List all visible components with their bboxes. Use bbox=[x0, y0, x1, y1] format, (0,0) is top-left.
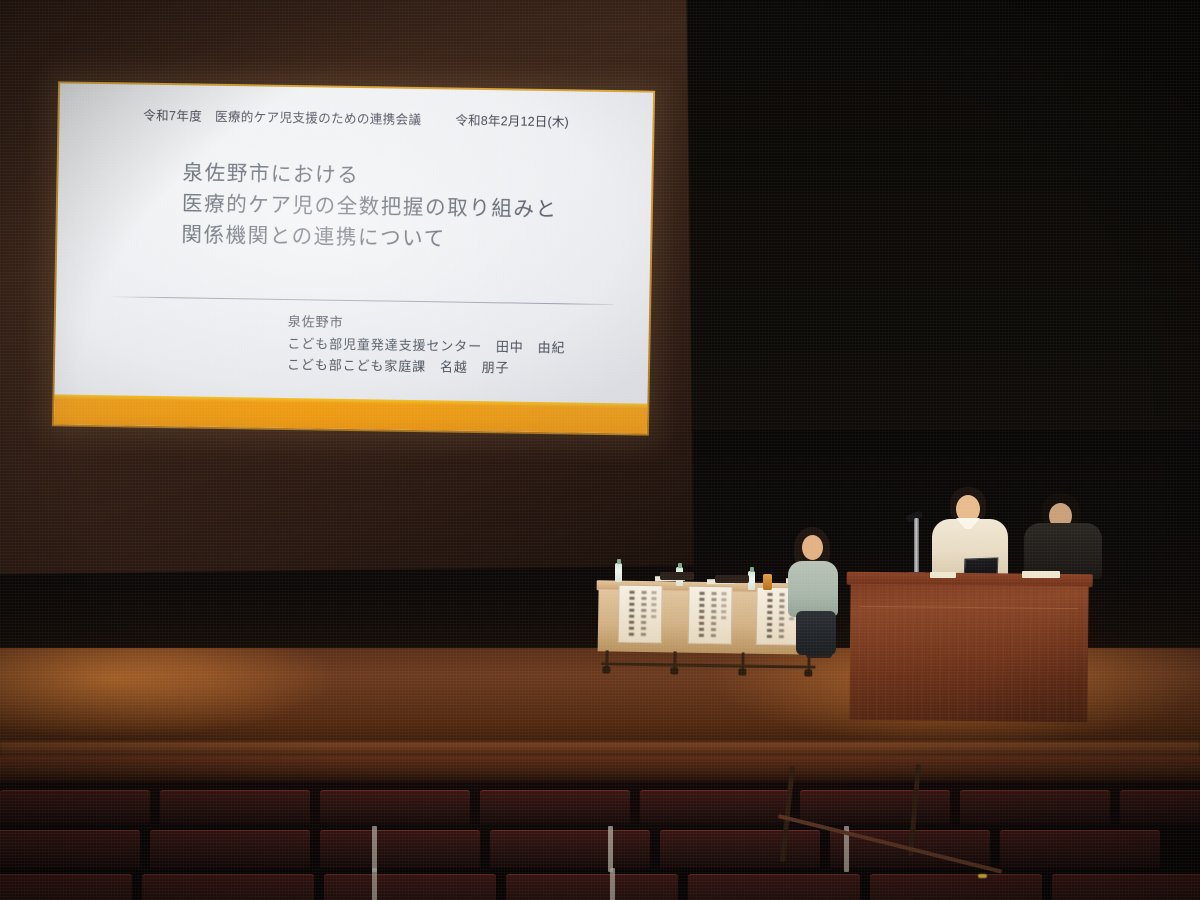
name-placard bbox=[688, 586, 733, 645]
seat-armrest bbox=[610, 868, 615, 900]
slide-header: 令和7年度 医療的ケア児支援のための連携会議 令和8年2月12日(木) bbox=[59, 103, 652, 131]
placard-text-column bbox=[629, 591, 635, 639]
table-caster bbox=[804, 669, 812, 676]
standing-assistant bbox=[1022, 493, 1106, 581]
amber-cup bbox=[763, 574, 772, 590]
panel-chair-back bbox=[715, 575, 749, 583]
lectern bbox=[845, 572, 1093, 727]
auditorium-seat bbox=[1000, 830, 1160, 868]
placard-text-column bbox=[721, 592, 726, 622]
seat-armrest bbox=[608, 826, 613, 872]
slide-title: 泉佐野市における 医療的ケア児の全数把握の取り組みと 関係機関との連携について bbox=[181, 157, 558, 256]
seat-armrest bbox=[372, 826, 377, 872]
lectern-trim-line bbox=[860, 606, 1078, 609]
placard-text-column bbox=[651, 591, 656, 621]
microphone-stand bbox=[914, 518, 919, 578]
auditorium-seat bbox=[490, 830, 650, 868]
presentation-photo-scene: 令和7年度 医療的ケア児支援のための連携会議 令和8年2月12日(木) 泉佐野市… bbox=[0, 0, 1200, 900]
seated-panelist bbox=[784, 527, 850, 667]
table-caster bbox=[670, 667, 678, 674]
placard-text-column bbox=[699, 592, 705, 640]
auditorium-seat bbox=[0, 790, 150, 824]
auditorium-seat bbox=[1120, 790, 1200, 824]
placard-text-column bbox=[711, 592, 717, 640]
auditorium-seat bbox=[660, 830, 820, 868]
lectern-body bbox=[849, 584, 1088, 722]
aisle-step-light-icon bbox=[978, 874, 987, 878]
slide-header-date: 令和8年2月12日(木) bbox=[455, 110, 569, 131]
auditorium-seat bbox=[142, 874, 314, 900]
auditorium-seat bbox=[0, 830, 140, 868]
slide-title-line-3: 関係機関との連携について bbox=[181, 220, 557, 257]
auditorium-seat bbox=[480, 790, 630, 824]
placard-text-column bbox=[641, 591, 647, 639]
auditorium-seat bbox=[1052, 874, 1200, 900]
auditorium-seat bbox=[870, 874, 1042, 900]
panel-chair-back bbox=[660, 572, 694, 580]
table-caster bbox=[602, 666, 610, 673]
seating-front-ledge bbox=[0, 756, 1200, 782]
water-bottle bbox=[748, 571, 755, 590]
slide-credit-presenter-2: こども部こども家庭課 名越 朋子 bbox=[287, 354, 565, 380]
auditorium-seat bbox=[320, 830, 480, 868]
projection-screen: 令和7年度 医療的ケア児支援のための連携会議 令和8年2月12日(木) 泉佐野市… bbox=[52, 81, 655, 435]
slide-header-event-title: 令和7年度 医療的ケア児支援のための連携会議 bbox=[143, 105, 422, 128]
auditorium-seat bbox=[640, 790, 790, 824]
presentation-slide: 令和7年度 医療的ケア児支援のための連携会議 令和8年2月12日(木) 泉佐野市… bbox=[54, 83, 653, 433]
lectern-paper bbox=[1022, 571, 1060, 578]
auditorium-seat bbox=[150, 830, 310, 868]
slide-divider-rule bbox=[110, 296, 613, 305]
panelist-head bbox=[802, 535, 823, 560]
slide-credits: 泉佐野市 こども部児童発達支援センター 田中 由紀 こども部こども家庭課 名越 … bbox=[287, 311, 566, 380]
lectern-paper bbox=[930, 572, 956, 578]
seat-armrest bbox=[372, 868, 377, 900]
table-caster bbox=[738, 668, 746, 675]
panelist-lap bbox=[796, 611, 836, 655]
auditorium-seat bbox=[506, 874, 678, 900]
auditorium-seat bbox=[0, 874, 132, 900]
auditorium-seat bbox=[800, 790, 950, 824]
auditorium-seat bbox=[320, 790, 470, 824]
auditorium-seat bbox=[160, 790, 310, 824]
auditorium-seating bbox=[0, 756, 1200, 900]
water-bottle bbox=[615, 563, 622, 582]
name-placard bbox=[618, 585, 663, 644]
auditorium-seat bbox=[688, 874, 860, 900]
placard-text-column bbox=[767, 593, 773, 641]
panelist-torso bbox=[788, 561, 838, 617]
auditorium-seat bbox=[324, 874, 496, 900]
auditorium-seat bbox=[960, 790, 1110, 824]
